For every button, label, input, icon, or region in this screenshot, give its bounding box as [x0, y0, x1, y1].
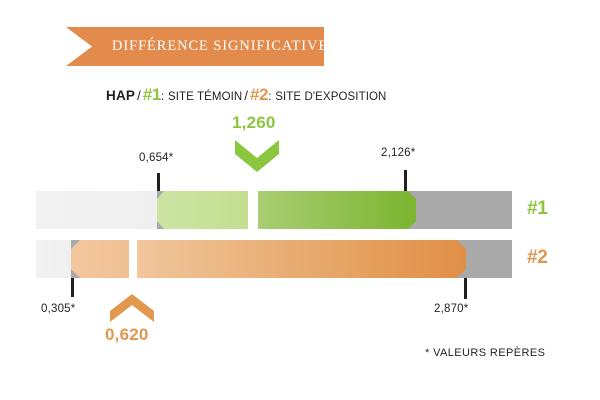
- chevron-up-icon: [110, 294, 154, 322]
- footnote-valeurs-reperes: * VALEURS REPÈRES: [425, 347, 545, 359]
- series2-segment-light: [71, 240, 129, 278]
- series1-segment-dark: [258, 191, 416, 229]
- series1-segment-gap: [248, 191, 258, 229]
- series1-reference-low-label: 0,654*: [139, 152, 173, 164]
- series2-reference-low-label: 0,305*: [41, 303, 75, 315]
- series2-tick-low: [71, 278, 74, 297]
- series1-reference-high-label: 2,126*: [381, 147, 415, 159]
- series1-tick-high: [404, 170, 407, 191]
- series2-segment-gap: [129, 240, 137, 278]
- series1-bar-track: [36, 191, 512, 229]
- series1-segment-light: [157, 191, 248, 229]
- series2-tick-high: [464, 278, 467, 299]
- series1-marker-value: 1,260: [232, 113, 276, 133]
- series2-marker-value: 0,620: [105, 325, 149, 345]
- series2-row-label: #2: [527, 247, 548, 269]
- series1-row-label: #1: [527, 198, 548, 220]
- chevron-down-icon: [235, 140, 279, 172]
- series2-segment-dark: [137, 240, 466, 278]
- series1-tick-low: [157, 173, 160, 192]
- series1-segment-below-range: [36, 191, 157, 229]
- series2-bar-track: [36, 240, 512, 278]
- series2-segment-below-range: [36, 240, 71, 278]
- chart-area: 1,260 0,654* 2,126* #1 #2 0,305* 2,870* …: [0, 0, 600, 400]
- series2-reference-high-label: 2,870*: [434, 303, 468, 315]
